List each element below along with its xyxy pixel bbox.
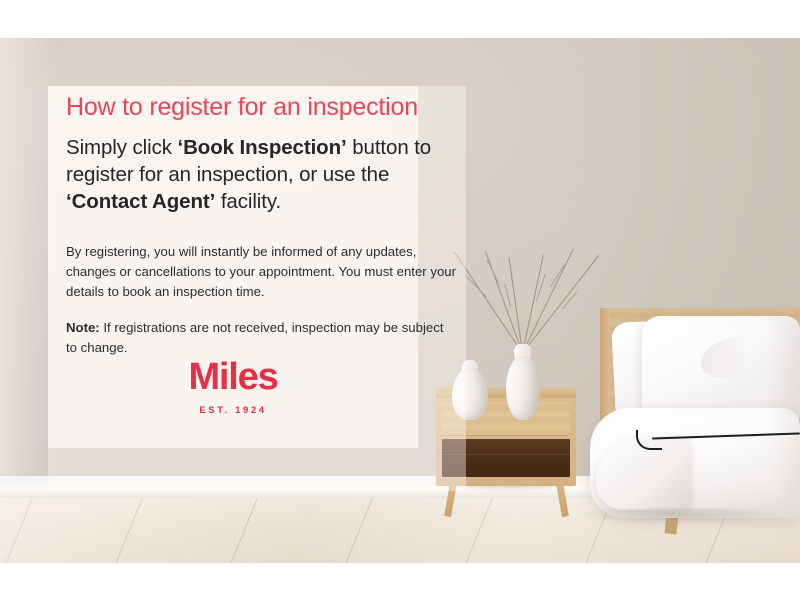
branch-twig xyxy=(550,265,565,288)
logo-established: EST. 1924 xyxy=(48,405,418,416)
letterbox-bottom xyxy=(0,563,800,600)
note-paragraph: Note: If registrations are not received,… xyxy=(66,318,456,358)
page-title: How to register for an inspection xyxy=(66,93,456,122)
vase-right xyxy=(506,356,540,420)
banner-image: How to register for an inspection Simply… xyxy=(0,0,800,600)
lead-part-3: facility. xyxy=(215,190,281,213)
branch-twig xyxy=(487,259,499,283)
branch-stem xyxy=(522,249,574,354)
lead-paragraph: Simply click ‘Book Inspection’ button to… xyxy=(66,134,456,216)
book-inspection-label: ‘Book Inspection’ xyxy=(177,136,346,159)
body-paragraph: By registering, you will instantly be in… xyxy=(66,242,456,302)
note-label: Note: xyxy=(66,320,100,335)
brand-logo: Miles EST. 1924 xyxy=(48,358,418,416)
bed-shadow xyxy=(580,508,800,526)
branch-twig xyxy=(562,292,577,309)
logo-wordmark: Miles xyxy=(48,358,418,396)
letterbox-top xyxy=(0,0,800,38)
banner-copy: How to register for an inspection Simply… xyxy=(66,93,456,358)
note-text: If registrations are not received, inspe… xyxy=(66,320,444,355)
contact-agent-label: ‘Contact Agent’ xyxy=(66,190,215,213)
room-photo: How to register for an inspection Simply… xyxy=(0,38,800,563)
branch-twig xyxy=(465,275,487,297)
lead-part-1: Simply click xyxy=(66,136,177,159)
